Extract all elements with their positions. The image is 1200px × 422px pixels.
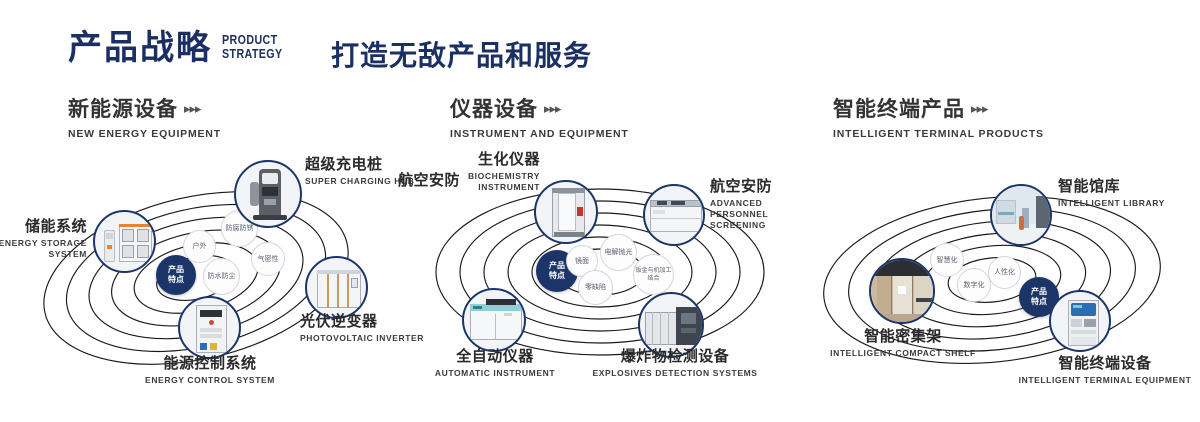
label-intelligent-terminal-equipment: 智能终端设备 INTELLIGENT TERMINAL EQUIPMENT — [1005, 355, 1200, 386]
screening-machine-icon — [645, 186, 703, 244]
core-badge-line2: 特点 — [168, 275, 184, 285]
label-cn: 生化仪器 — [430, 151, 540, 169]
page-title-en-line1: PRODUCT — [222, 33, 283, 47]
label-cn: 爆炸物检测设备 — [575, 348, 775, 366]
library-interior-photo — [992, 186, 1050, 244]
section-title-text: 智能终端产品 — [833, 98, 965, 121]
label-intelligent-library: 智能馆库 INTELLIGENT LIBRARY — [1058, 178, 1165, 209]
core-badge-line2: 特点 — [549, 271, 565, 281]
chevrons-icon: ▸▸▸ — [184, 101, 201, 116]
label-en: INTELLIGENT COMPACT SHELF — [806, 348, 1000, 359]
label-cn: 储能系统 — [0, 218, 87, 236]
section-title-text: 仪器设备 — [450, 98, 538, 121]
label-en: ENERGY STORAGE SYSTEM — [0, 238, 87, 260]
label-advanced-personnel-screening: 航空安防 ADVANCED PERSONNEL SCREENING — [710, 178, 798, 231]
node-intelligent-compact-shelf[interactable] — [869, 258, 935, 324]
label-en: BIOCHEMISTRY INSTRUMENT — [430, 171, 540, 193]
section-heading-instrument: 仪器设备▸▸▸ INSTRUMENT AND EQUIPMENT — [450, 93, 629, 140]
node-energy-control-system[interactable] — [178, 296, 241, 359]
explosives-detector-icon — [640, 294, 702, 356]
feature-bubble-intelligent: 智慧化 — [930, 243, 964, 277]
chevrons-icon: ▸▸▸ — [544, 101, 561, 116]
label-cn: 智能终端设备 — [1005, 355, 1200, 373]
feature-bubble-airtight: 气密性 — [251, 242, 285, 276]
core-badge-line1: 产品 — [168, 265, 184, 275]
node-automatic-instrument[interactable] — [462, 288, 526, 352]
node-photovoltaic-inverter[interactable] — [305, 256, 368, 319]
feature-bubble-waterproof: 防水防尘 — [203, 258, 240, 295]
node-intelligent-library[interactable] — [990, 184, 1052, 246]
label-cn: 全自动仪器 — [390, 348, 600, 366]
diagram-intelligent-terminal: 智慧化 数字化 人性化 产品 特点 智能馆库 INTELLIGENT LIBRA… — [800, 150, 1200, 422]
feature-bubble-sheet-metal-machining: 钣金与机加工结合 — [633, 254, 674, 295]
core-badge-product-features: 产品 特点 — [156, 255, 196, 295]
node-advanced-personnel-screening[interactable] — [643, 184, 705, 246]
label-en: EXPLOSIVES DETECTION SYSTEMS — [575, 368, 775, 379]
node-energy-storage-system[interactable] — [93, 210, 156, 273]
label-cn: 航空安防 — [710, 178, 798, 196]
label-en: ADVANCED PERSONNEL SCREENING — [710, 198, 798, 231]
page-title-en-line2: STRATEGY — [222, 47, 283, 61]
node-biochemistry-instrument[interactable] — [534, 180, 598, 244]
feature-bubble-humanized: 人性化 — [988, 256, 1021, 289]
section-heading-intelligent-terminal: 智能终端产品▸▸▸ INTELLIGENT TERMINAL PRODUCTS — [833, 93, 1044, 140]
compact-shelf-photo — [871, 260, 933, 322]
diagram-instrument: 产品 特点 镜面 电解抛光 零缺陷 钣金与机加工结合 航空安防 生化仪器 BIO… — [400, 150, 800, 422]
label-cn: 智能密集架 — [806, 328, 1000, 346]
label-biochemistry-instrument: 生化仪器 BIOCHEMISTRY INSTRUMENT — [430, 151, 540, 193]
charging-pile-icon — [236, 162, 300, 226]
page-title-cn: 产品战略 — [68, 28, 212, 68]
label-energy-control-system: 能源控制系统 ENERGY CONTROL SYSTEM — [90, 355, 330, 386]
feature-bubble-outdoor: 户外 — [183, 230, 216, 263]
security-gate-icon — [536, 182, 596, 242]
core-badge-line1: 产品 — [1031, 287, 1047, 297]
control-cabinet-icon — [180, 298, 239, 357]
label-cn: 智能馆库 — [1058, 178, 1165, 196]
label-cn: 能源控制系统 — [90, 355, 330, 373]
label-en: ENERGY CONTROL SYSTEM — [90, 375, 330, 386]
label-en: AUTOMATIC INSTRUMENT — [390, 368, 600, 379]
automatic-analyzer-icon — [464, 290, 524, 350]
label-energy-storage-system: 储能系统 ENERGY STORAGE SYSTEM — [0, 218, 87, 260]
node-intelligent-terminal-equipment[interactable] — [1049, 290, 1111, 352]
section-title-text: 新能源设备 — [68, 98, 178, 121]
section-heading-new-energy: 新能源设备▸▸▸ NEW ENERGY EQUIPMENT — [68, 93, 221, 140]
label-intelligent-compact-shelf: 智能密集架 INTELLIGENT COMPACT SHELF — [806, 328, 1000, 359]
node-super-charging-hub[interactable] — [234, 160, 302, 228]
self-service-kiosk-icon — [1051, 292, 1109, 350]
label-en: INTELLIGENT TERMINAL EQUIPMENT — [1005, 375, 1200, 386]
page-subtitle: 打造无敌产品和服务 — [331, 34, 592, 74]
section-title-en: INTELLIGENT TERMINAL PRODUCTS — [833, 128, 1044, 140]
core-badge-line2: 特点 — [1031, 297, 1047, 307]
section-title-cn: 仪器设备▸▸▸ — [450, 93, 629, 123]
feature-bubble-electropolishing: 电解抛光 — [600, 234, 637, 271]
page-header: 产品战略 PRODUCT STRATEGY 打造无敌产品和服务 — [0, 0, 1200, 88]
label-explosives-detection: 爆炸物检测设备 EXPLOSIVES DETECTION SYSTEMS — [575, 348, 775, 379]
label-en: INTELLIGENT LIBRARY — [1058, 198, 1165, 209]
section-title-en: INSTRUMENT AND EQUIPMENT — [450, 128, 629, 140]
inverter-cabinet-icon — [307, 258, 366, 317]
chevrons-icon: ▸▸▸ — [971, 101, 988, 116]
label-automatic-instrument: 全自动仪器 AUTOMATIC INSTRUMENT — [390, 348, 600, 379]
feature-bubble-zero-defect: 零缺陷 — [578, 270, 613, 305]
core-badge-line1: 产品 — [549, 261, 565, 271]
diagram-new-energy: 产品 特点 户外 防腐防锈 防水防尘 气密性 储能系统 ENERGY STORA… — [0, 150, 400, 422]
energy-storage-cabinet-icon — [95, 212, 154, 271]
feature-bubble-digital: 数字化 — [957, 268, 991, 302]
section-title-en: NEW ENERGY EQUIPMENT — [68, 128, 221, 140]
section-title-cn: 智能终端产品▸▸▸ — [833, 93, 1044, 123]
page-title-en: PRODUCT STRATEGY — [222, 33, 283, 61]
section-title-cn: 新能源设备▸▸▸ — [68, 93, 221, 123]
